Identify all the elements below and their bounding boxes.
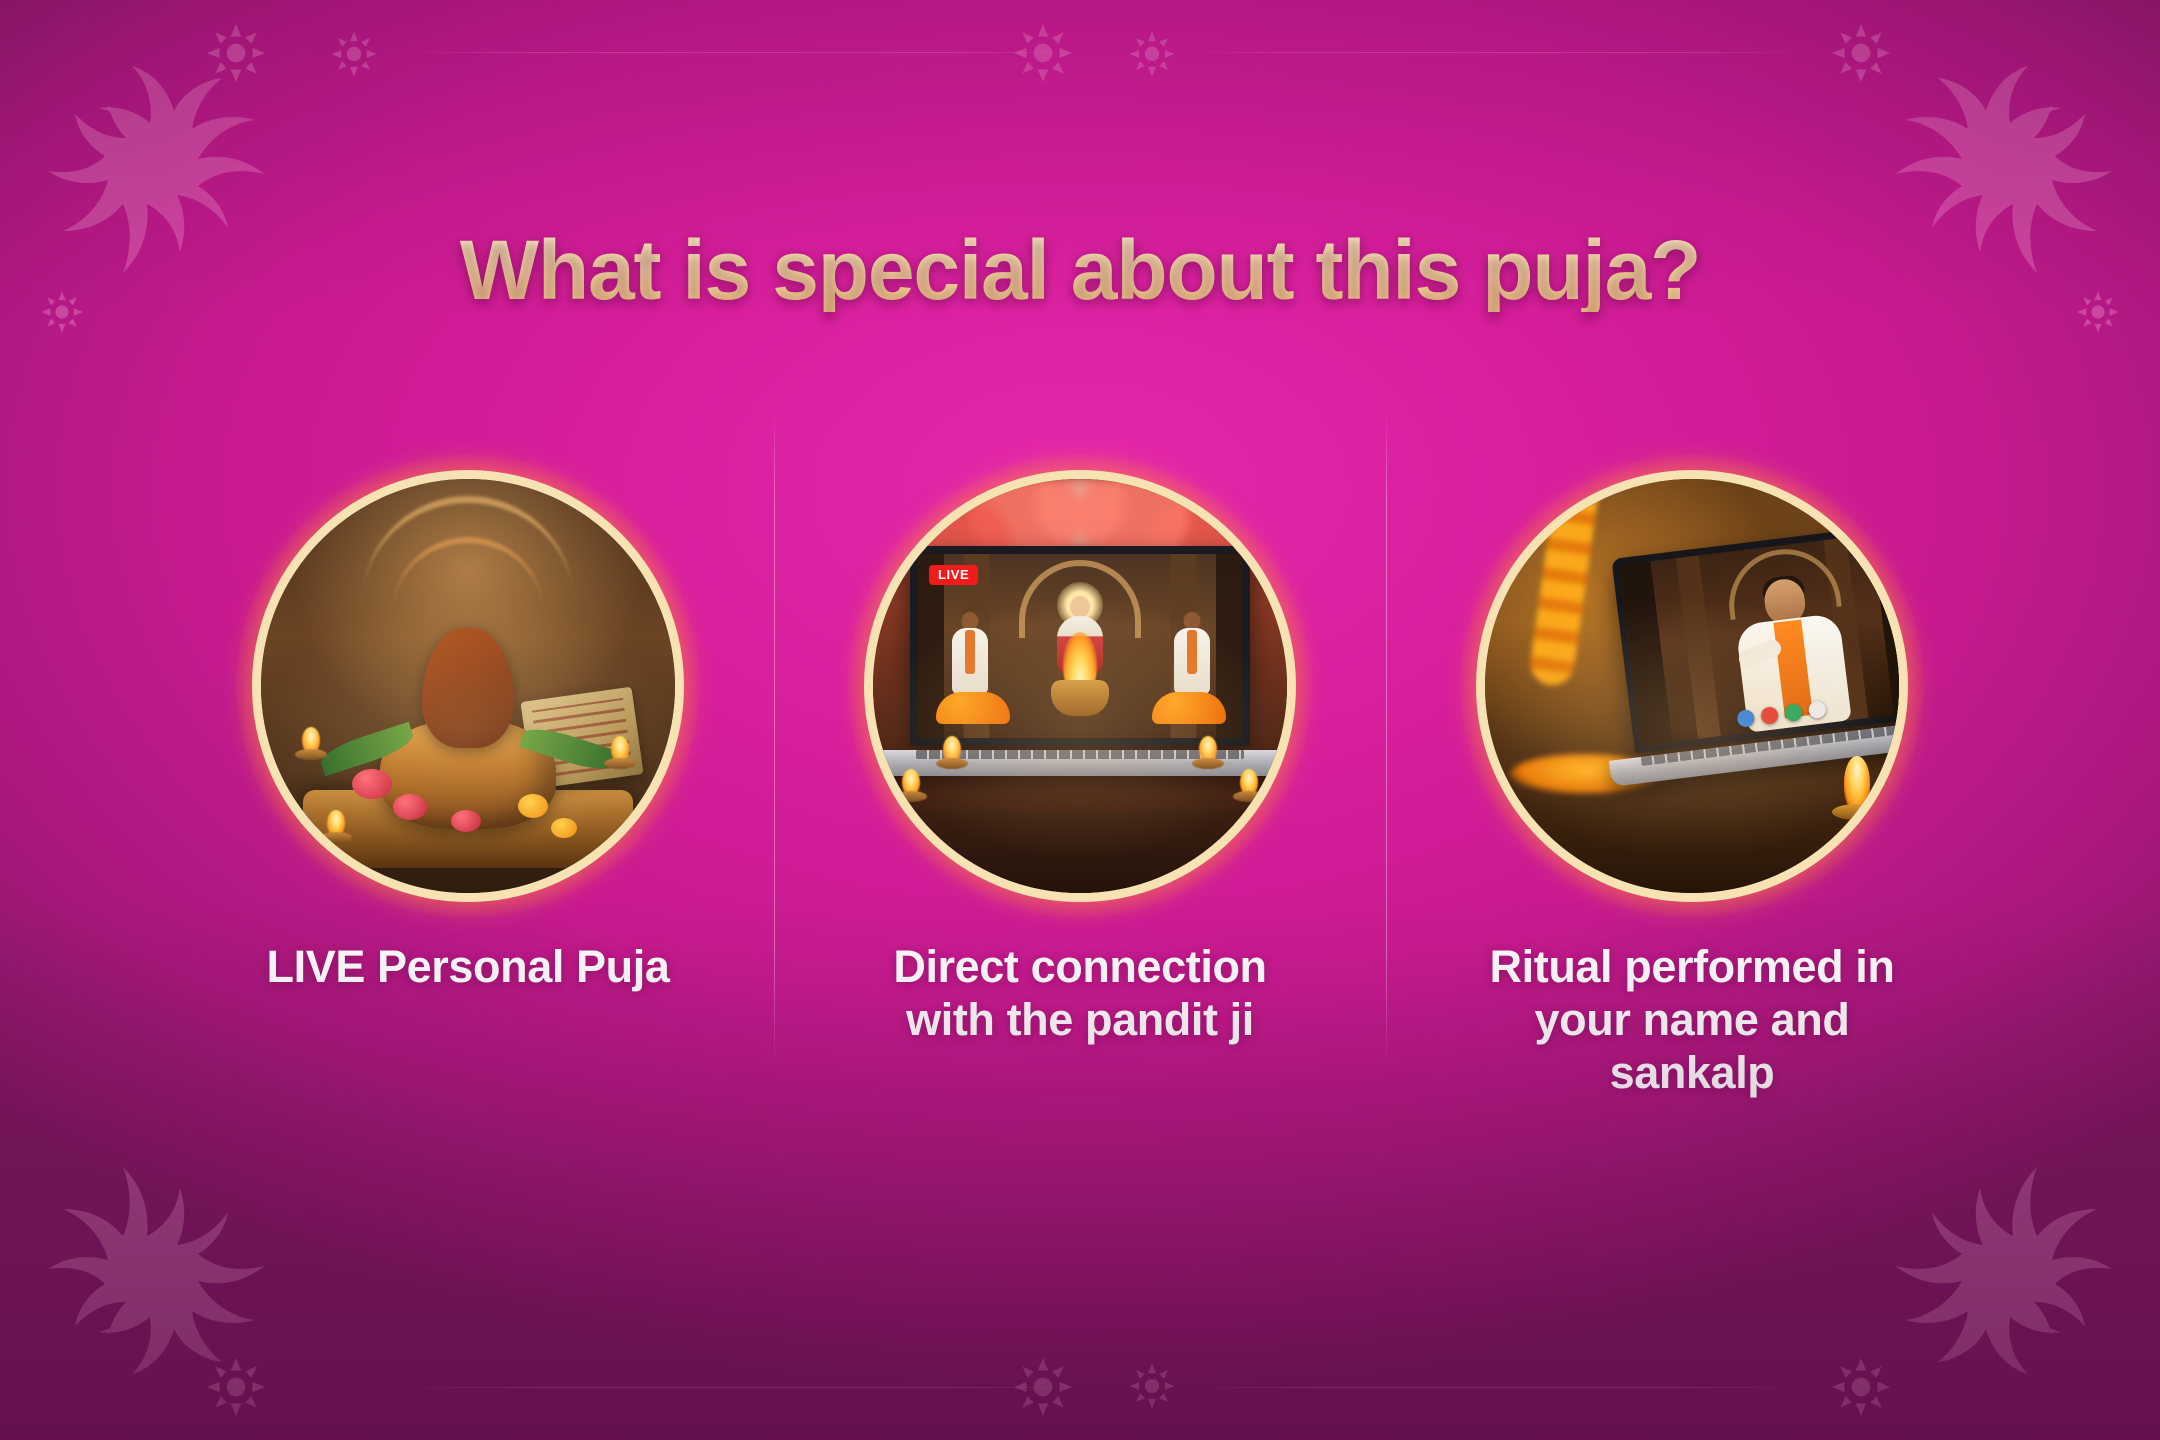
flower-motif-icon	[1830, 1356, 1892, 1418]
feature-card-direct-connection-pandit[interactable]: LIVE Direct connection with the pandit j…	[774, 470, 1386, 1046]
feature-caption: Direct connection with the pandit ji	[850, 940, 1310, 1046]
flower-motif-icon	[205, 1356, 267, 1418]
feature-card-live-personal-puja[interactable]: LIVE Personal Puja	[162, 470, 774, 993]
corner-ornament-bottom-right-icon	[1854, 1134, 2154, 1434]
feature-caption: Ritual performed in your name and sankal…	[1462, 940, 1922, 1099]
flower-motif-icon	[1128, 1362, 1176, 1410]
bottom-divider-line	[400, 1387, 1090, 1388]
flower-motif-icon	[330, 30, 378, 78]
page-title: What is special about this puja?	[0, 228, 2160, 312]
promo-banner: What is special about this puja?	[0, 0, 2160, 1440]
feature-image-wrapper	[252, 470, 684, 902]
bottom-divider-line	[1190, 1387, 1800, 1388]
flower-motif-icon	[205, 22, 267, 84]
feature-image-live-stream-laptop: LIVE	[864, 470, 1296, 902]
flower-motif-icon	[1830, 22, 1892, 84]
feature-image-wrapper	[1476, 470, 1908, 902]
feature-image-kalash-altar	[252, 470, 684, 902]
feature-image-video-call-pandit	[1476, 470, 1908, 902]
flower-motif-icon	[1012, 22, 1074, 84]
feature-list: LIVE Personal Puja	[0, 470, 2160, 1099]
top-divider-line	[1190, 52, 1800, 53]
feature-card-ritual-in-your-name[interactable]: Ritual performed in your name and sankal…	[1386, 470, 1998, 1099]
feature-caption: LIVE Personal Puja	[238, 940, 698, 993]
feature-image-wrapper: LIVE	[864, 470, 1296, 902]
flower-motif-icon	[1128, 30, 1176, 78]
top-divider-line	[400, 52, 1090, 53]
